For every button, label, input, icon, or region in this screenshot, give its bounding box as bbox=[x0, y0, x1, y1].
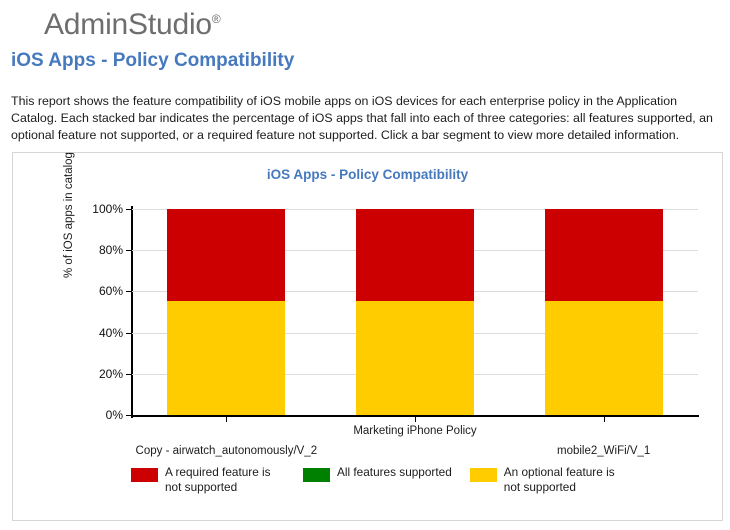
y-axis-tick bbox=[126, 250, 132, 251]
page-title: iOS Apps - Policy Compatibility bbox=[11, 50, 294, 72]
plot-area: 0%20%40%60%80%100%Copy - airwatch_autono… bbox=[132, 209, 698, 415]
y-axis-tick-label: 60% bbox=[99, 284, 123, 298]
y-axis-tick-label: 80% bbox=[99, 243, 123, 257]
y-axis-tick bbox=[126, 209, 132, 210]
x-axis-tick-label: mobile2_WiFi/V_1 bbox=[557, 445, 650, 457]
x-axis-tick bbox=[226, 415, 227, 422]
x-axis-tick-label: Copy - airwatch_autonomously/V_2 bbox=[136, 445, 318, 457]
y-axis-tick bbox=[126, 333, 132, 334]
legend-label: An optional feature is not supported bbox=[504, 465, 624, 495]
report-page: AdminStudio® iOS Apps - Policy Compatibi… bbox=[0, 0, 730, 530]
report-description: This report shows the feature compatibil… bbox=[11, 93, 723, 144]
y-axis-tick-label: 100% bbox=[92, 202, 123, 216]
y-axis-tick-label: 0% bbox=[106, 408, 123, 422]
bar-stack[interactable] bbox=[167, 209, 285, 415]
y-axis-tick bbox=[126, 291, 132, 292]
y-axis-tick-label: 20% bbox=[99, 367, 123, 381]
y-axis-tick bbox=[126, 415, 132, 416]
bar-segment[interactable] bbox=[356, 301, 474, 415]
bar-segment[interactable] bbox=[545, 301, 663, 415]
legend-color-swatch bbox=[303, 468, 330, 482]
y-axis-tick-label: 40% bbox=[99, 326, 123, 340]
x-axis-tick bbox=[604, 415, 605, 422]
y-axis-line bbox=[131, 206, 133, 418]
legend-item[interactable]: A required feature is not supported bbox=[131, 465, 285, 495]
bar-segment[interactable] bbox=[356, 209, 474, 301]
legend-item[interactable]: All features supported bbox=[303, 465, 452, 482]
chart-title: iOS Apps - Policy Compatibility bbox=[13, 167, 722, 182]
x-axis-tick bbox=[415, 415, 416, 422]
brand-name: AdminStudio bbox=[44, 8, 212, 41]
legend-label: All features supported bbox=[337, 465, 452, 480]
bar-segment[interactable] bbox=[545, 209, 663, 301]
legend-color-swatch bbox=[470, 468, 497, 482]
bar-stack[interactable] bbox=[545, 209, 663, 415]
legend-color-swatch bbox=[131, 468, 158, 482]
bar-segment[interactable] bbox=[167, 301, 285, 415]
legend-item[interactable]: An optional feature is not supported bbox=[470, 465, 624, 495]
x-axis-tick-label: Marketing iPhone Policy bbox=[353, 425, 476, 437]
y-axis-title: % of iOS apps in catalog bbox=[63, 152, 75, 278]
adminstudio-logo: AdminStudio® bbox=[44, 8, 221, 42]
chart-panel: iOS Apps - Policy Compatibility % of iOS… bbox=[12, 152, 723, 521]
bar-segment[interactable] bbox=[167, 209, 285, 301]
legend-label: A required feature is not supported bbox=[165, 465, 285, 495]
bar-stack[interactable] bbox=[356, 209, 474, 415]
y-axis-tick bbox=[126, 374, 132, 375]
chart-legend: A required feature is not supportedAll f… bbox=[131, 465, 651, 495]
registered-trademark-icon: ® bbox=[212, 12, 221, 26]
